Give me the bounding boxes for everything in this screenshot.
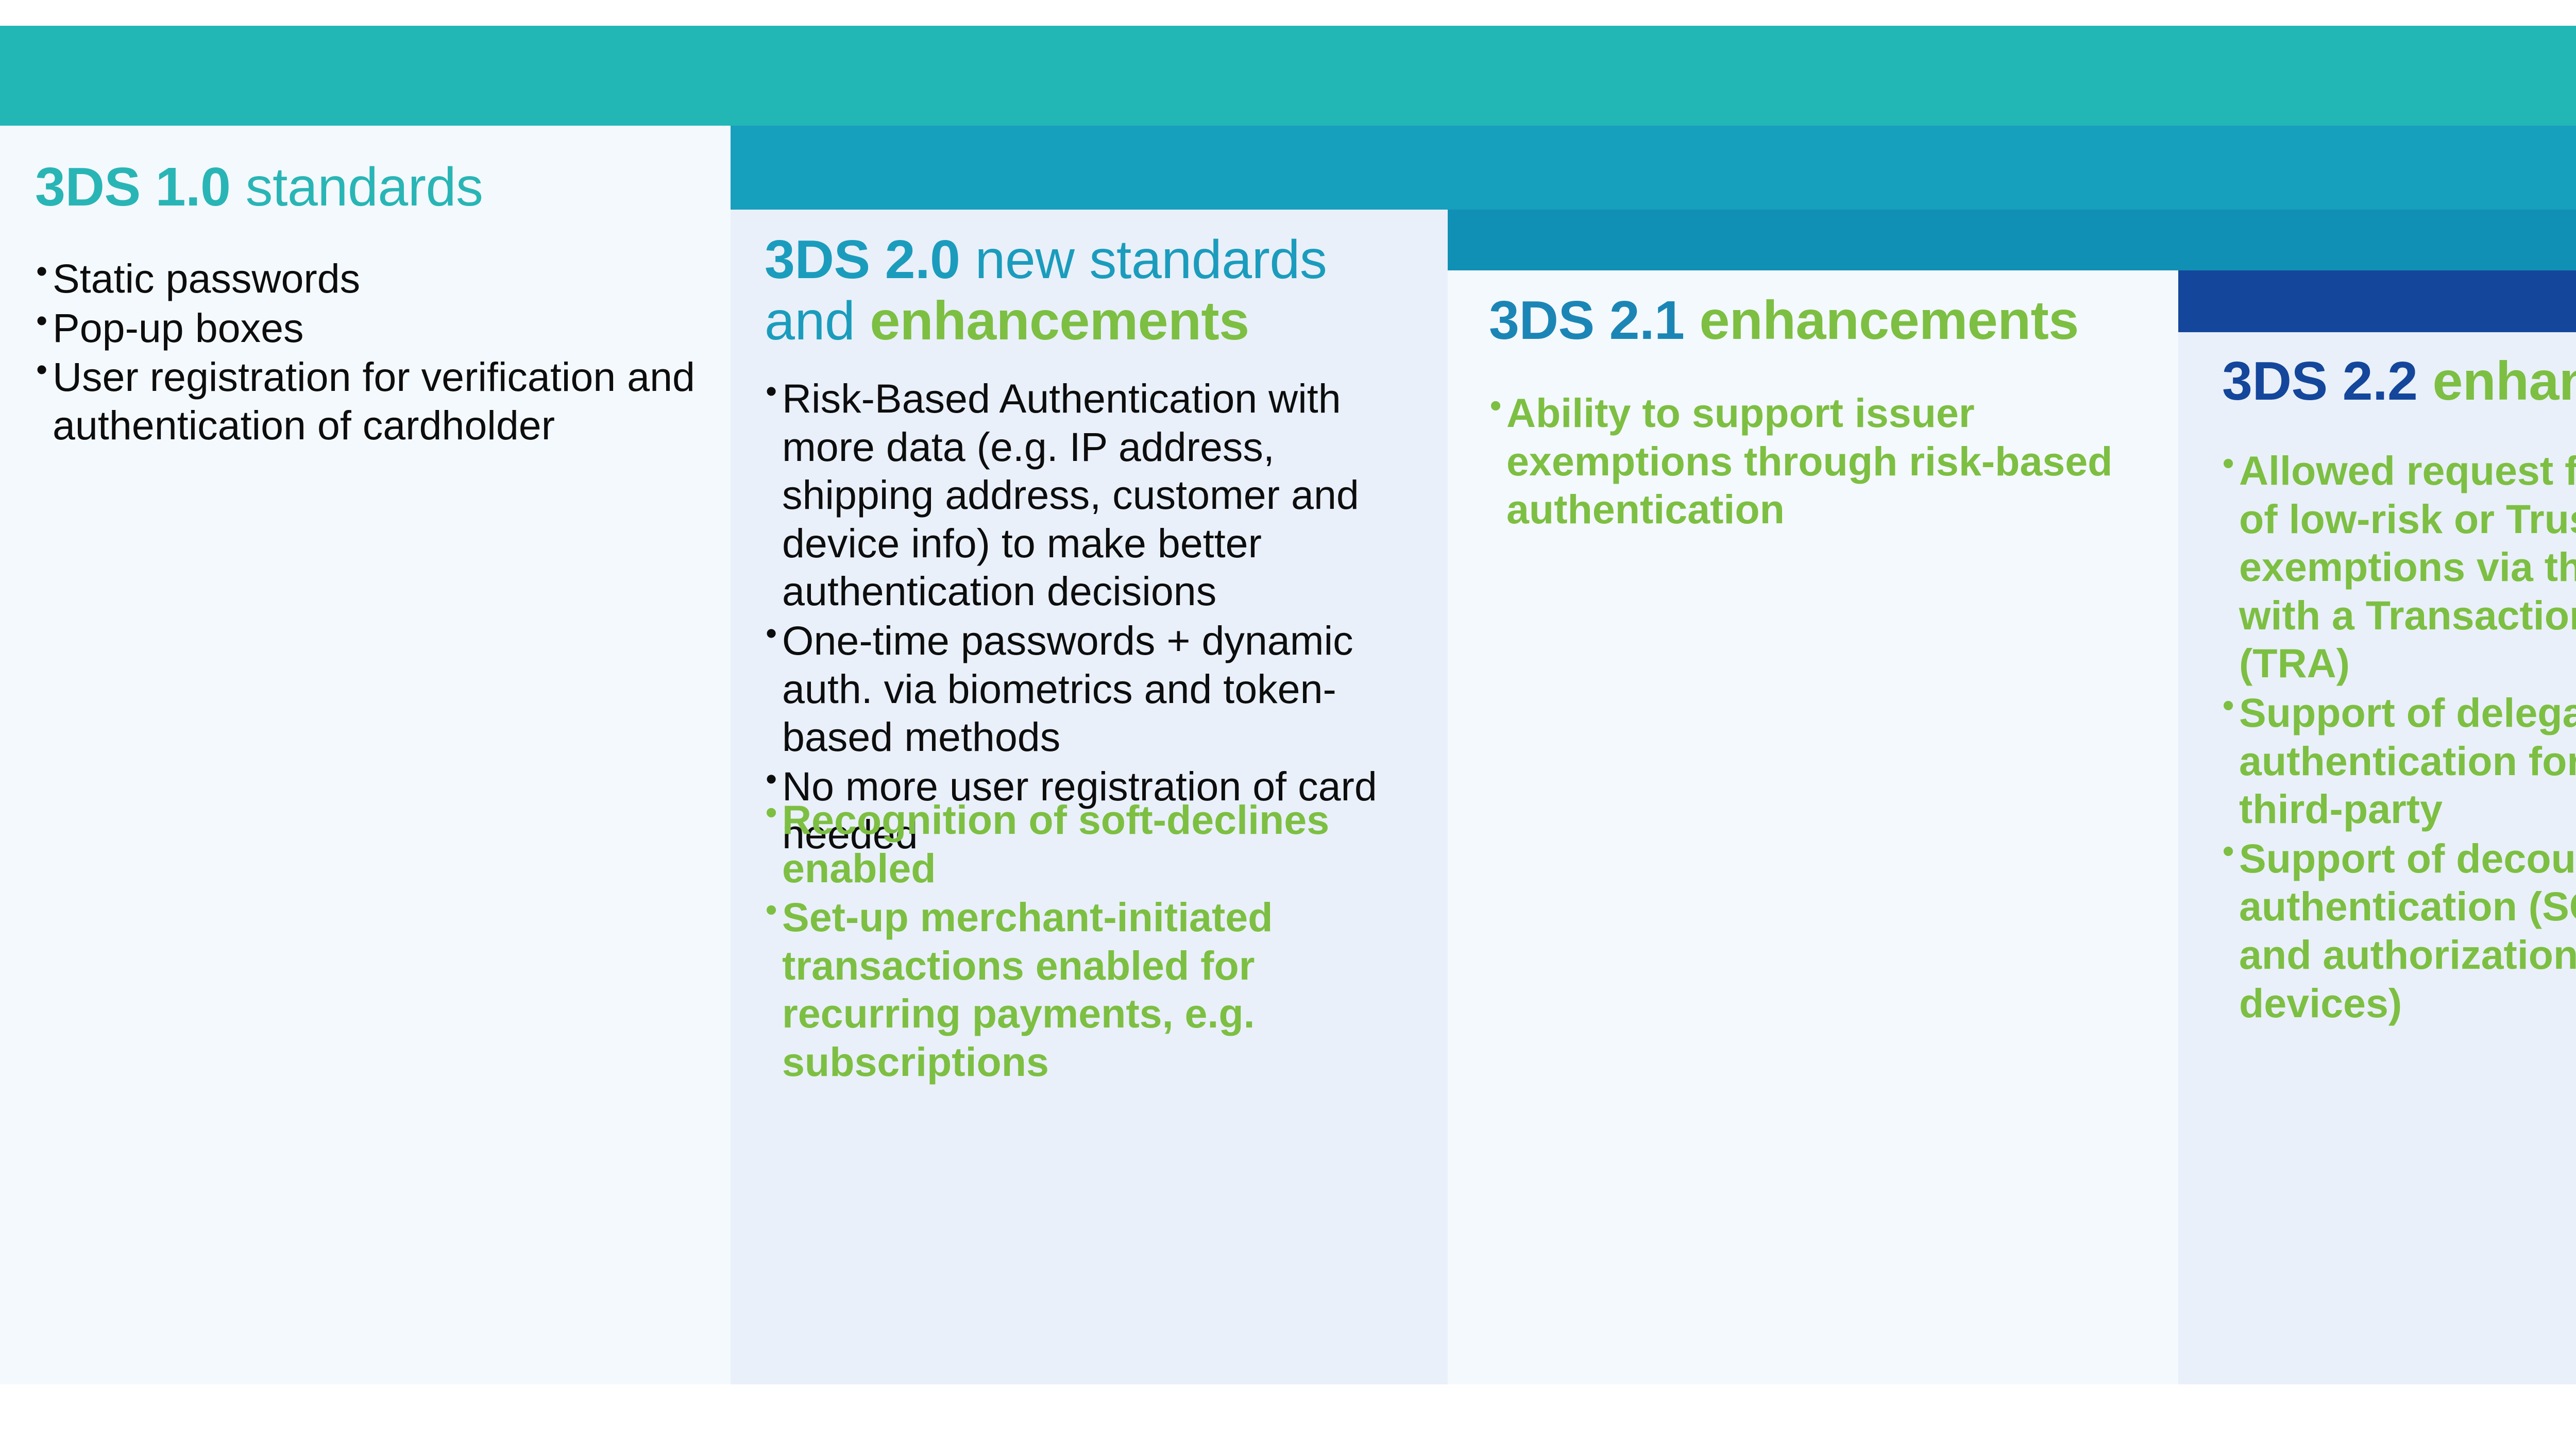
list-item: One-time passwords + dynamic auth. via b… <box>761 616 1431 761</box>
list-item: Ability to support issuer exemptions thr… <box>1486 389 2156 534</box>
list-item: Support of delegated authentication for … <box>2218 689 2576 833</box>
list-item: Support of decoupled authentication (SCA… <box>2218 834 2576 1027</box>
title-soft <box>2418 351 2433 412</box>
list-item: Static passwords <box>32 254 707 303</box>
panel-title-3ds-2-2: 3DS 2.2 enhancements <box>2222 351 2576 412</box>
panel-3ds-1-0: 3DS 1.0 standards Static passwords Pop-u… <box>0 126 731 1384</box>
list-item: User registration for verification and a… <box>32 353 707 449</box>
list-item: Set-up merchant-initiated transactions e… <box>761 893 1431 1086</box>
bullet-list-3ds-2-1: Ability to support issuer exemptions thr… <box>1486 389 2156 535</box>
panel-3ds-2-2: 3DS 2.2 enhancements Allowed request for… <box>2178 332 2576 1384</box>
list-item: Recognition of soft-declines enabled <box>761 796 1431 892</box>
panel-title-3ds-1-0: 3DS 1.0 standards <box>35 157 483 218</box>
title-strong: 3DS 2.0 <box>765 229 960 290</box>
title-strong: 3DS 1.0 <box>35 157 231 217</box>
panel-title-3ds-2-0: 3DS 2.0 new standards and enhancements <box>765 229 1424 351</box>
title-accent: enhancements <box>1699 290 2078 351</box>
list-item: Allowed request for merchants of low-ris… <box>2218 447 2576 688</box>
panel-title-3ds-2-1: 3DS 2.1 enhancements <box>1489 290 2079 351</box>
title-strong: 3DS 2.1 <box>1489 290 1685 351</box>
title-soft <box>1685 290 1700 351</box>
diagram-canvas: 3DS 1.0 standards Static passwords Pop-u… <box>0 0 2576 1439</box>
panel-3ds-2-0: 3DS 2.0 new standards and enhancements R… <box>731 210 1448 1384</box>
title-accent: enhancements <box>2432 351 2576 412</box>
list-item: Pop-up boxes <box>32 304 707 352</box>
list-item: Risk-Based Authentication with more data… <box>761 374 1431 615</box>
bullet-list-3ds-2-2: Allowed request for merchants of low-ris… <box>2218 447 2576 1028</box>
panel-3ds-2-1: 3DS 2.1 enhancements Ability to support … <box>1448 270 2178 1384</box>
bullet-list-3ds-1-0: Static passwords Pop-up boxes User regis… <box>32 254 707 450</box>
title-accent: enhancements <box>870 290 1249 351</box>
title-strong: 3DS 2.2 <box>2222 351 2418 412</box>
title-soft: standards <box>231 157 483 217</box>
bullet-list-3ds-2-0: Risk-Based Authentication with more data… <box>761 374 1431 860</box>
bullet-list-3ds-2-0-green: Recognition of soft-declines enabled Set… <box>761 796 1431 1087</box>
